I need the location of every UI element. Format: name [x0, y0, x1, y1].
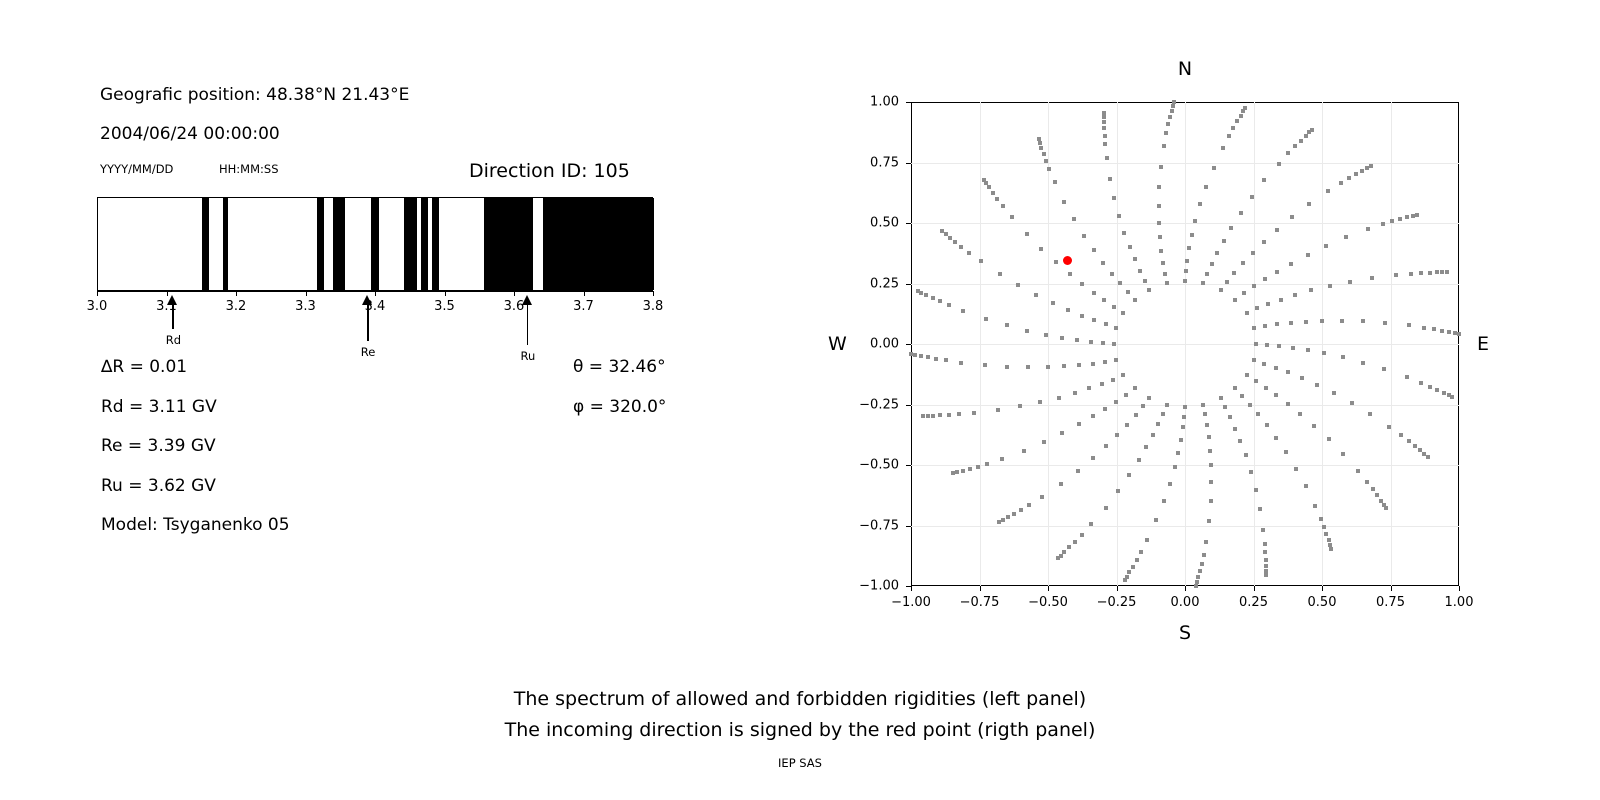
scatter-point — [1341, 452, 1345, 456]
scatter-point — [1210, 262, 1214, 266]
scatter-point — [1103, 134, 1107, 138]
scatter-point — [1102, 111, 1106, 115]
scatter-point — [1245, 311, 1249, 315]
scatter-point — [1131, 565, 1135, 569]
scatter-point — [1215, 251, 1219, 255]
scatter-point — [1447, 330, 1451, 334]
scatter-point — [1415, 213, 1419, 217]
x-axis-tick — [1117, 586, 1118, 591]
scatter-point — [1263, 542, 1267, 546]
scatter-point — [1207, 519, 1211, 523]
scatter-point — [1092, 291, 1096, 295]
scatter-point — [1057, 396, 1061, 400]
x-axis-tick — [1185, 586, 1186, 591]
scatter-point — [1072, 217, 1076, 221]
scatter-point — [1062, 200, 1066, 204]
scatter-point — [1264, 573, 1268, 577]
scatter-point — [1001, 518, 1005, 522]
scatter-point — [919, 291, 923, 295]
scatter-point — [1365, 480, 1369, 484]
scatter-point — [1161, 412, 1165, 416]
scatter-point — [1457, 332, 1461, 336]
scatter-point — [1018, 404, 1022, 408]
scatter-point — [1039, 247, 1043, 251]
scatter-point — [1122, 231, 1126, 235]
scatter-point — [1250, 195, 1254, 199]
x-axis-tick — [1048, 586, 1049, 591]
spectrum-tick — [584, 291, 585, 296]
scatter-point — [1114, 400, 1118, 404]
scatter-point — [1044, 333, 1048, 337]
scatter-point — [1405, 215, 1409, 219]
scatter-point — [1265, 343, 1269, 347]
scatter-point — [931, 296, 935, 300]
forbidden-band — [421, 198, 428, 290]
x-axis-tick-label: −1.00 — [891, 595, 931, 610]
scatter-point — [1133, 257, 1137, 261]
scatter-point — [948, 236, 952, 240]
scatter-point — [983, 363, 987, 367]
x-axis-tick — [980, 586, 981, 591]
scatter-point — [997, 520, 1001, 524]
scatter-point — [1198, 569, 1202, 573]
scatter-point — [1114, 326, 1118, 330]
scatter-point — [1248, 403, 1252, 407]
scatter-point — [1274, 366, 1278, 370]
scatter-point — [1299, 139, 1303, 143]
scatter-point — [1326, 189, 1330, 193]
scatter-point — [926, 355, 930, 359]
scatter-point — [1165, 281, 1169, 285]
scatter-point — [1209, 463, 1213, 467]
scatter-point — [1104, 506, 1108, 510]
scatter-point — [1056, 556, 1060, 560]
scatter-point — [1354, 172, 1358, 176]
scatter-point — [1232, 271, 1236, 275]
scatter-point — [1428, 385, 1432, 389]
spectrum-info-value: Re = 3.39 GV — [101, 436, 216, 456]
x-axis-tick-label: −0.50 — [1028, 595, 1068, 610]
scatter-point — [1200, 562, 1204, 566]
scatter-point — [1384, 506, 1388, 510]
scatter-point — [1110, 272, 1114, 276]
scatter-point — [1320, 319, 1324, 323]
scatter-point — [1275, 228, 1279, 232]
scatter-point — [1127, 473, 1131, 477]
scatter-point — [1435, 388, 1439, 392]
scatter-point — [1298, 412, 1302, 416]
forbidden-band — [404, 198, 417, 290]
scatter-point — [938, 413, 942, 417]
scatter-point — [1193, 219, 1197, 223]
scatter-point — [1225, 280, 1229, 284]
scatter-point — [1144, 445, 1148, 449]
scatter-point — [1108, 177, 1112, 181]
scatter-point — [1077, 422, 1081, 426]
x-axis-tick-label: 0.75 — [1376, 595, 1405, 610]
scatter-point — [1038, 400, 1042, 404]
scatter-point — [1076, 469, 1080, 473]
scatter-point — [1319, 517, 1323, 521]
scatter-point — [1327, 437, 1331, 441]
scatter-point — [1112, 196, 1116, 200]
scatter-point — [1398, 217, 1402, 221]
spectrum-tick — [306, 291, 307, 296]
scatter-point — [924, 293, 928, 297]
scatter-point — [1111, 378, 1115, 382]
scatter-point — [1219, 396, 1223, 400]
scatter-point — [1019, 508, 1023, 512]
scatter-point — [1307, 202, 1311, 206]
direction-id-label: Direction ID: 105 — [469, 160, 630, 182]
scatter-point — [1304, 320, 1308, 324]
scatter-point — [1356, 469, 1360, 473]
scatter-point — [1044, 159, 1048, 163]
scatter-point — [1135, 558, 1139, 562]
scatter-point — [967, 251, 971, 255]
gridline-horizontal — [911, 344, 1459, 345]
spectrum-tick — [236, 291, 237, 296]
scatter-point — [1115, 433, 1119, 437]
scatter-point — [1286, 370, 1290, 374]
scatter-point — [1176, 451, 1180, 455]
scatter-point — [1340, 319, 1344, 323]
scatter-point — [1203, 412, 1207, 416]
scatter-point — [1168, 115, 1172, 119]
scatter-point — [1413, 444, 1417, 448]
scatter-point — [1252, 326, 1256, 330]
scatter-point — [1293, 293, 1297, 297]
scatter-point — [1168, 482, 1172, 486]
spectrum-tick-label: 3.7 — [573, 299, 594, 314]
scatter-point — [1341, 355, 1345, 359]
scatter-point — [1228, 415, 1232, 419]
y-axis-tick-label: −1.00 — [843, 579, 899, 594]
scatter-point — [1001, 204, 1005, 208]
scatter-point — [1258, 507, 1262, 511]
scatter-point — [1422, 326, 1426, 330]
scatter-point — [1221, 146, 1225, 150]
y-axis-tick-label: 1.00 — [843, 95, 899, 110]
scatter-point — [1290, 215, 1294, 219]
forbidden-band — [484, 198, 533, 290]
rigidity-marker-arrow — [167, 295, 179, 331]
scatter-point — [1394, 273, 1398, 277]
scatter-point — [1204, 185, 1208, 189]
scatter-point — [1147, 288, 1151, 292]
scatter-point — [961, 469, 965, 473]
scatter-point — [1103, 407, 1107, 411]
y-axis-tick — [906, 102, 911, 103]
scatter-point — [1284, 450, 1288, 454]
scatter-point — [1082, 234, 1086, 238]
scatter-point — [1201, 281, 1205, 285]
scatter-point — [984, 317, 988, 321]
scatter-point — [1277, 162, 1281, 166]
scatter-point — [1080, 533, 1084, 537]
gridline-horizontal — [911, 223, 1459, 224]
scatter-point — [959, 245, 963, 249]
scatter-point — [1445, 270, 1449, 274]
scatter-point — [1332, 391, 1336, 395]
scatter-point — [1143, 279, 1147, 283]
scatter-point — [921, 414, 925, 418]
scatter-point — [1450, 395, 1454, 399]
scatter-point — [1080, 314, 1084, 318]
x-axis-tick-label: −0.25 — [1097, 595, 1137, 610]
scatter-point — [1145, 538, 1149, 542]
scatter-point — [1440, 329, 1444, 333]
x-axis-tick — [1254, 586, 1255, 591]
x-axis-tick-label: 0.00 — [1171, 595, 1200, 610]
scatter-point — [1251, 251, 1255, 255]
scatter-point — [1209, 480, 1213, 484]
scatter-point — [1407, 323, 1411, 327]
scatter-point — [1077, 363, 1081, 367]
scatter-point — [1227, 134, 1231, 138]
scatter-point — [1291, 346, 1295, 350]
scatter-point — [1156, 422, 1160, 426]
scatter-point — [1147, 396, 1151, 400]
scatter-point — [1348, 280, 1352, 284]
scatter-point — [1387, 425, 1391, 429]
scatter-point — [1428, 271, 1432, 275]
scatter-point — [1141, 404, 1145, 408]
scatter-point — [1038, 141, 1042, 145]
scatter-point — [1231, 126, 1235, 130]
scatter-point — [961, 309, 965, 313]
scatter-point — [1016, 283, 1020, 287]
scatter-point — [1300, 376, 1304, 380]
scatter-point — [1127, 570, 1131, 574]
scatter-point — [996, 408, 1000, 412]
scatter-point — [1034, 293, 1038, 297]
scatter-point — [1104, 322, 1108, 326]
scatter-point — [1361, 319, 1365, 323]
scatter-point — [1294, 467, 1298, 471]
scatter-point — [995, 197, 999, 201]
incoming-direction-point — [1063, 256, 1072, 265]
scatter-point — [926, 414, 930, 418]
scatter-point — [1202, 553, 1206, 557]
scatter-point — [1027, 503, 1031, 507]
scatter-point — [1254, 342, 1258, 346]
scatter-point — [1371, 487, 1375, 491]
scatter-point — [1375, 493, 1379, 497]
scatter-point — [1286, 151, 1290, 155]
scatter-point — [1399, 433, 1403, 437]
scatter-point — [1039, 146, 1043, 150]
scatter-point — [1390, 219, 1394, 223]
rigidity-marker-arrow — [522, 295, 534, 347]
scatter-point — [1204, 540, 1208, 544]
scatter-point — [1121, 311, 1125, 315]
scatter-point — [1059, 482, 1063, 486]
scatter-point — [1187, 246, 1191, 250]
scatter-point — [1116, 489, 1120, 493]
geographic-position-text: Geografic position: 48.38°N 21.43°E — [100, 85, 409, 105]
footer-credit: IEP SAS — [0, 756, 1600, 770]
forbidden-band — [317, 198, 324, 290]
scatter-point — [1324, 532, 1328, 536]
scatter-point — [1256, 412, 1260, 416]
scatter-point — [1042, 440, 1046, 444]
scatter-point — [1381, 222, 1385, 226]
scatter-point — [940, 229, 944, 233]
scatter-point — [1066, 308, 1070, 312]
scatter-point — [1091, 414, 1095, 418]
scatter-point — [953, 240, 957, 244]
scatter-point — [934, 357, 938, 361]
scatter-point — [1238, 439, 1242, 443]
scatter-point — [972, 411, 976, 415]
caption-line-2: The incoming direction is signed by the … — [0, 719, 1600, 741]
scatter-point — [1091, 362, 1095, 366]
scatter-point — [913, 353, 917, 357]
spectrum-tick — [97, 291, 98, 296]
scatter-point — [1369, 164, 1373, 168]
direction-angle-value: θ = 32.46° — [573, 357, 666, 377]
scatter-point — [1089, 340, 1093, 344]
scatter-point — [987, 185, 991, 189]
scatter-point — [1026, 365, 1030, 369]
scatter-point — [955, 470, 959, 474]
scatter-point — [1309, 288, 1313, 292]
scatter-point — [1162, 499, 1166, 503]
scatter-point — [1264, 564, 1268, 568]
scatter-point — [1133, 386, 1137, 390]
scatter-point — [1419, 271, 1423, 275]
scatter-point — [1137, 458, 1141, 462]
scatter-point — [1350, 401, 1354, 405]
forbidden-band — [333, 198, 346, 290]
scatter-point — [1263, 550, 1267, 554]
scatter-point — [959, 361, 963, 365]
scatter-point — [1244, 453, 1248, 457]
scatter-point — [1010, 215, 1014, 219]
gridline-horizontal — [911, 163, 1459, 164]
scatter-point — [1254, 488, 1258, 492]
scatter-point — [1073, 540, 1077, 544]
scatter-point — [1196, 575, 1200, 579]
scatter-point — [1164, 131, 1168, 135]
scatter-point — [1047, 167, 1051, 171]
spectrum-info-value: ∆R = 0.01 — [101, 357, 187, 377]
scatter-point — [1117, 214, 1121, 218]
spectrum-tick — [375, 291, 376, 296]
x-axis-tick — [1322, 586, 1323, 591]
scatter-point — [985, 462, 989, 466]
scatter-point — [1275, 322, 1279, 326]
scatter-point — [1157, 204, 1161, 208]
scatter-point — [1182, 415, 1186, 419]
caption-line-1: The spectrum of allowed and forbidden ri… — [0, 688, 1600, 710]
scatter-point — [1328, 284, 1332, 288]
scatter-point — [1105, 156, 1109, 160]
scatter-point — [1091, 456, 1095, 460]
scatter-point — [1293, 144, 1297, 148]
scatter-point — [919, 354, 923, 358]
scatter-point — [1092, 248, 1096, 252]
y-axis-tick — [906, 223, 911, 224]
scatter-point — [1266, 302, 1270, 306]
scatter-point — [1347, 176, 1351, 180]
scatter-point — [957, 412, 961, 416]
forbidden-band — [543, 198, 654, 290]
scatter-point — [998, 272, 1002, 276]
scatter-point — [1165, 403, 1169, 407]
scatter-point — [1103, 360, 1107, 364]
scatter-point — [1286, 402, 1290, 406]
date-format-hint: YYYY/MM/DD — [100, 162, 173, 176]
scatter-point — [1264, 386, 1268, 390]
scatter-point — [1368, 412, 1372, 416]
scatter-point — [1124, 393, 1128, 397]
scatter-point — [1073, 391, 1077, 395]
scatter-point — [1205, 423, 1209, 427]
scatter-point — [1062, 364, 1066, 368]
gridline-horizontal — [911, 526, 1459, 527]
gridline-horizontal — [911, 465, 1459, 466]
scatter-point — [1262, 362, 1266, 366]
scatter-point — [1198, 202, 1202, 206]
scatter-point — [1312, 424, 1316, 428]
scatter-point — [1040, 495, 1044, 499]
scatter-point — [1304, 134, 1308, 138]
scatter-point — [1101, 261, 1105, 265]
scatter-point — [1181, 425, 1185, 429]
scatter-point — [1092, 318, 1096, 322]
scatter-point — [1051, 301, 1055, 305]
scatter-point — [1223, 405, 1227, 409]
scatter-point — [1432, 327, 1436, 331]
scatter-point — [1275, 270, 1279, 274]
scatter-point — [1102, 115, 1106, 119]
scatter-point — [1383, 321, 1387, 325]
forbidden-band — [432, 198, 438, 290]
scatter-point — [1102, 298, 1106, 302]
scatter-point — [1361, 361, 1365, 365]
scatter-point — [1245, 373, 1249, 377]
scatter-point — [1173, 465, 1177, 469]
x-axis-tick-label: 1.00 — [1445, 595, 1474, 610]
scatter-point — [1046, 365, 1050, 369]
scatter-point — [1125, 423, 1129, 427]
scatter-point — [991, 191, 995, 195]
scatter-point — [1102, 126, 1106, 130]
scatter-point — [1233, 386, 1237, 390]
scatter-point — [1163, 272, 1167, 276]
x-axis-tick — [911, 586, 912, 591]
scatter-point — [1242, 291, 1246, 295]
scatter-point — [1208, 449, 1212, 453]
scatter-point — [931, 414, 935, 418]
scatter-point — [1304, 484, 1308, 488]
scatter-point — [1042, 152, 1046, 156]
forbidden-band — [202, 198, 208, 290]
scatter-point — [1171, 104, 1175, 108]
scatter-point — [1053, 180, 1057, 184]
scatter-point — [1179, 438, 1183, 442]
scatter-point — [1185, 259, 1189, 263]
scatter-point — [1060, 336, 1064, 340]
scatter-point — [1118, 281, 1122, 285]
y-axis-tick-label: −0.75 — [843, 518, 899, 533]
scatter-point — [1313, 504, 1317, 508]
spectrum-info-value: Rd = 3.11 GV — [101, 397, 217, 417]
scatter-point — [1241, 261, 1245, 265]
scatter-point — [1435, 270, 1439, 274]
